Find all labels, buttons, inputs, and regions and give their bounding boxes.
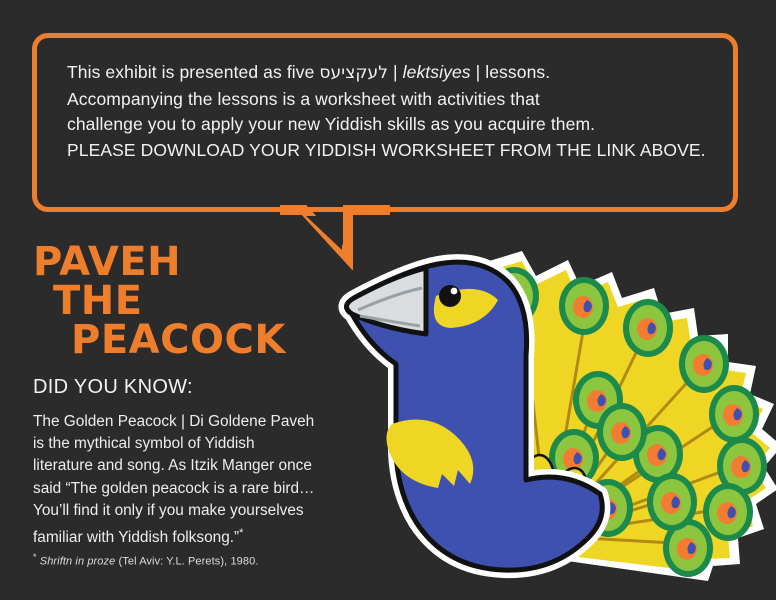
- body-line-6-text: familiar with Yiddish folksong.”: [33, 529, 239, 546]
- body-line-3: literature and song. As Itzik Manger onc…: [33, 455, 333, 477]
- callout-text-pre: This exhibit is presented as five: [67, 62, 319, 82]
- did-you-know-heading: DID YOU KNOW:: [33, 376, 193, 399]
- speech-bubble-tail: [280, 200, 390, 270]
- body-line-2: is the mythical symbol of Yiddish: [33, 433, 333, 455]
- callout-text-post: lessons.: [485, 62, 550, 82]
- callout-sep-1: |: [388, 62, 403, 82]
- page-title-line-3: PEACOCK: [33, 321, 333, 360]
- did-you-know-body: The Golden Peacock | Di Goldene Paveh is…: [33, 411, 333, 549]
- poster-canvas: This exhibit is presented as five לעקציע…: [0, 0, 776, 600]
- footnote-citation: (Tel Aviv: Y.L. Perets), 1980.: [115, 556, 258, 568]
- footnote-marker: *: [33, 552, 37, 562]
- body-line-6: familiar with Yiddish folksong.”*: [33, 522, 333, 549]
- callout-inner: This exhibit is presented as five לעקציע…: [37, 38, 733, 163]
- callout-line-3: challenge you to apply your new Yiddish …: [67, 112, 705, 138]
- callout-sep-2: |: [471, 62, 486, 82]
- callout-line-1: This exhibit is presented as five לעקציע…: [67, 60, 705, 87]
- footnote-title: Shriftn in proze: [40, 556, 116, 568]
- page-title-line-2: THE: [33, 282, 333, 321]
- peacock-illustration: [336, 236, 776, 581]
- footnote: * Shriftn in proze (Tel Aviv: Y.L. Peret…: [33, 552, 258, 568]
- body-line-4: said “The golden peacock is a rare bird…: [33, 478, 333, 500]
- callout-transliteration: lektsiyes: [403, 62, 471, 82]
- download-worksheet-cta[interactable]: PLEASE DOWNLOAD YOUR YIDDISH WORKSHEET F…: [67, 138, 705, 164]
- callout-yiddish-word: לעקציעס: [319, 63, 388, 83]
- callout-line-2: Accompanying the lessons is a worksheet …: [67, 87, 705, 113]
- body-line-5: You’ll find it only if you make yourselv…: [33, 500, 333, 522]
- footnote-marker-inline: *: [239, 527, 243, 539]
- callout-bubble: This exhibit is presented as five לעקציע…: [32, 33, 738, 212]
- body-line-1: The Golden Peacock | Di Goldene Paveh: [33, 411, 333, 433]
